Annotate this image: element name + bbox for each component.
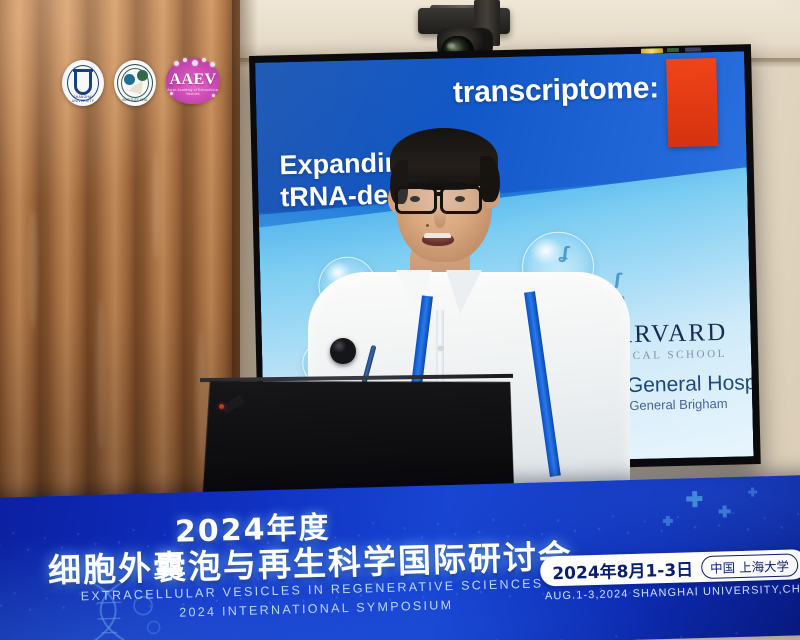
slide-accent-block (666, 58, 718, 147)
eyeglasses-lens-left (395, 186, 437, 214)
microphone-head-icon (330, 338, 356, 364)
laptop-indicator-dot (219, 404, 224, 409)
teeth (424, 233, 451, 238)
aaev-wordmark: AAEV (166, 71, 220, 89)
plus-decor (686, 496, 702, 501)
slide-title-top: transcriptome: (453, 71, 660, 110)
eyeglasses-lens-right (440, 186, 482, 214)
display-indicator-light-2 (667, 48, 679, 52)
event-date-text: 2024年8月1-3日 (552, 555, 694, 584)
logo-shanghai-university: SHANGHAI UNIVERSITY (62, 60, 104, 106)
event-venue-pill: 中国 上海大学 (701, 553, 799, 579)
plus-decor (748, 490, 757, 493)
event-banner: 2024年度 细胞外囊泡与再生科学国际研讨会 EXTRACELLULAR VES… (0, 475, 800, 640)
facial-mole (426, 224, 429, 227)
nose (434, 208, 446, 228)
shirt-button (438, 346, 443, 351)
logo-caption: INSTITUTE SEAL (114, 98, 156, 102)
logo-caption: SHANGHAI UNIVERSITY (62, 95, 104, 103)
aaev-subtext: Asian Academy of Extracellular Vesicles (166, 88, 220, 96)
logo-aaev: AAEV Asian Academy of Extracellular Vesi… (166, 58, 220, 104)
organizer-logos: SHANGHAI UNIVERSITY INSTITUTE SEAL (62, 60, 232, 114)
shirt-collar-right (446, 270, 482, 314)
logo-institute-seal: INSTITUTE SEAL (114, 60, 156, 106)
display-indicator-light-3 (685, 47, 701, 51)
plus-decor (719, 509, 731, 513)
plus-decor (663, 519, 673, 523)
hospital-subname: General Brigham (629, 396, 728, 413)
eyeglasses-bridge (437, 192, 443, 196)
hospital-name: General Hospital (627, 371, 754, 399)
conference-photo: transcriptome: Expanding the tRNA-derive… (0, 0, 800, 640)
